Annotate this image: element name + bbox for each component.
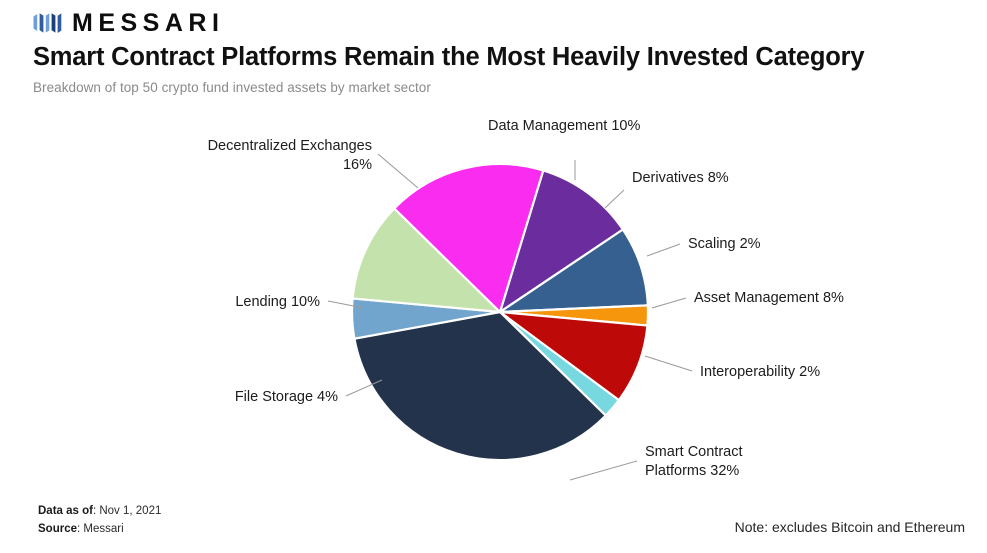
leader-line xyxy=(647,244,680,256)
brand-name: MESSARI xyxy=(72,11,224,36)
pie-slice-label: Derivatives 8% xyxy=(632,170,729,186)
page-title: Smart Contract Platforms Remain the Most… xyxy=(33,43,973,72)
leader-line xyxy=(605,190,624,208)
data-as-of-label: Data as of xyxy=(38,505,93,517)
pie-slice-label: Decentralized Exchanges16% xyxy=(208,138,373,173)
leader-line xyxy=(652,298,686,308)
messari-logo-icon xyxy=(33,12,63,34)
header: MESSARI Smart Contract Platforms Remain … xyxy=(33,8,973,95)
data-as-of-value: : Nov 1, 2021 xyxy=(93,505,161,517)
source-value: : Messari xyxy=(77,523,124,535)
leader-line xyxy=(378,154,418,188)
pie-chart-svg: Data Management 10%Derivatives 8%Scaling… xyxy=(0,108,987,508)
brand-row: MESSARI xyxy=(33,8,973,38)
pie-slice-label: Scaling 2% xyxy=(688,236,761,252)
footer-note: Note: excludes Bitcoin and Ethereum xyxy=(735,519,965,535)
page-subtitle: Breakdown of top 50 crypto fund invested… xyxy=(33,80,973,95)
source-label: Source xyxy=(38,523,77,535)
pie-slice-label: Asset Management 8% xyxy=(694,290,844,306)
pie-slice-label: Smart ContractPlatforms 32% xyxy=(645,444,743,479)
pie-slice-label: Interoperability 2% xyxy=(700,364,820,380)
data-as-of-line: Data as of: Nov 1, 2021 xyxy=(38,503,161,521)
pie-slice-label: Data Management 10% xyxy=(488,118,640,134)
pie-slices xyxy=(352,164,648,460)
pie-slice-label: File Storage 4% xyxy=(235,389,338,405)
leader-line xyxy=(645,356,692,371)
pie-slice-label: Lending 10% xyxy=(235,294,320,310)
pie-chart: Data Management 10%Derivatives 8%Scaling… xyxy=(0,108,987,508)
leader-line xyxy=(570,461,637,480)
source-line: Source: Messari xyxy=(38,521,161,539)
footer-credits: Data as of: Nov 1, 2021 Source: Messari xyxy=(38,503,161,539)
